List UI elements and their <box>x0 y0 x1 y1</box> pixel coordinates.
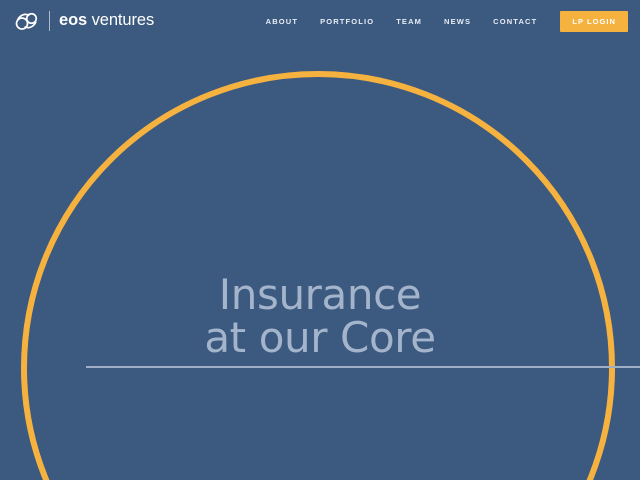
hero-headline: Insurance at our Core <box>0 274 640 360</box>
hero-divider-rule <box>86 366 640 368</box>
lp-login-button[interactable]: LP LOGIN <box>560 11 628 32</box>
site-header: eos ventures ABOUT PORTFOLIO TEAM NEWS C… <box>0 0 640 42</box>
brand-name-light: ventures <box>87 11 154 29</box>
nav-item-about[interactable]: ABOUT <box>255 11 309 32</box>
brand-divider <box>49 11 50 31</box>
nav-item-news[interactable]: NEWS <box>433 11 482 32</box>
nav-item-contact[interactable]: CONTACT <box>482 11 548 32</box>
hero-headline-line-2: at our Core <box>0 317 640 360</box>
nav-item-team[interactable]: TEAM <box>385 11 433 32</box>
brand-logo-link[interactable]: eos ventures <box>14 7 154 35</box>
hero-section: Insurance at our Core <box>0 0 640 480</box>
main-navigation: ABOUT PORTFOLIO TEAM NEWS CONTACT LP LOG… <box>255 11 628 32</box>
hero-headline-line-1: Insurance <box>0 274 640 317</box>
nav-item-portfolio[interactable]: PORTFOLIO <box>309 11 385 32</box>
eos-loop-mark-icon <box>14 10 40 32</box>
brand-name-strong: eos <box>59 11 87 29</box>
brand-wordmark: eos ventures <box>59 12 154 30</box>
